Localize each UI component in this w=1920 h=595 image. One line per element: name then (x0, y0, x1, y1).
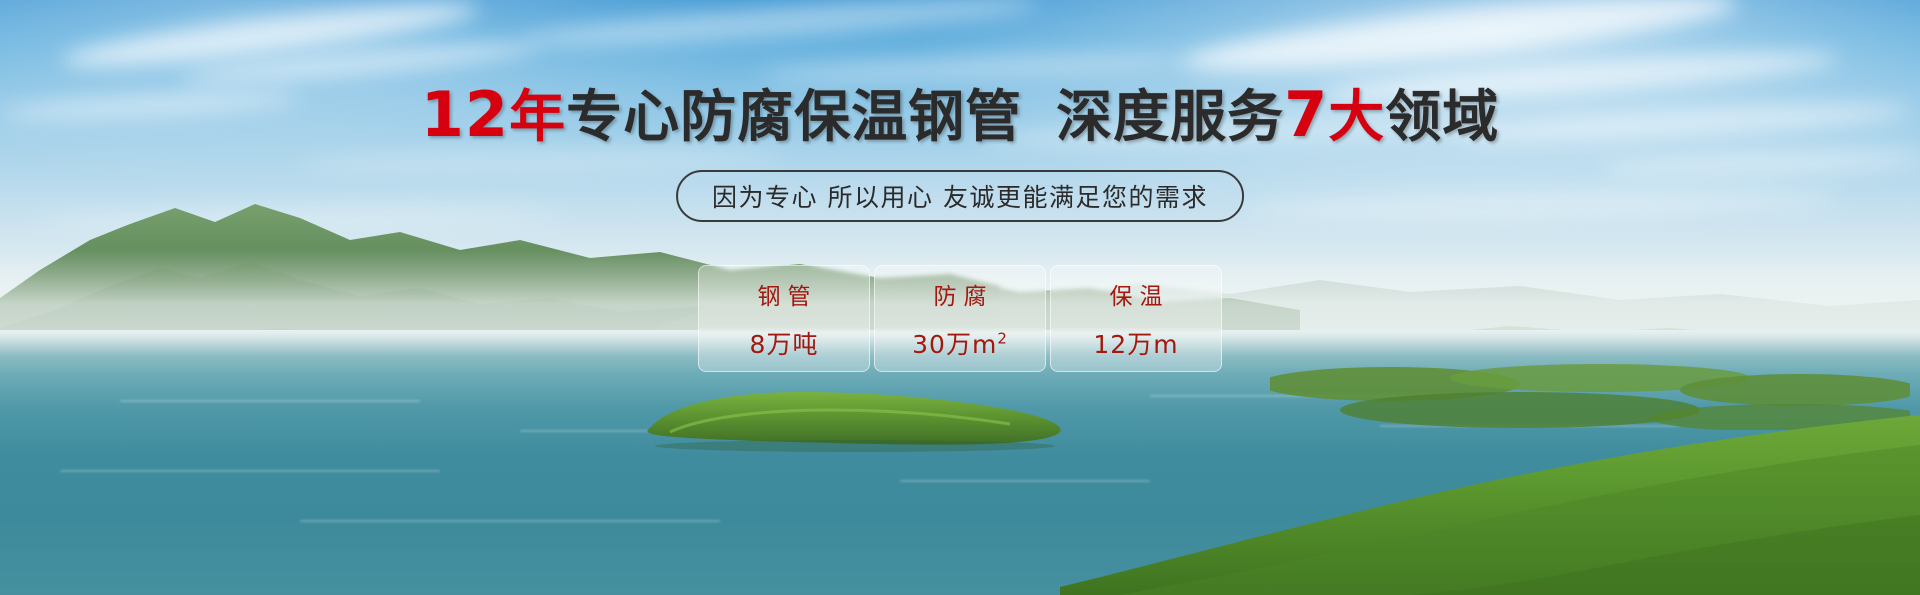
stat-card-anticorrosion[interactable]: 防腐 30万m2 (874, 265, 1046, 372)
stat-card-insulation[interactable]: 保温 12万m (1050, 265, 1222, 372)
stat-card-steel-pipe[interactable]: 钢管 8万吨 (698, 265, 870, 372)
headline: 12年专心防腐保温钢管深度服务7大领域 (0, 86, 1920, 147)
stat-card-value: 12万m (1093, 325, 1178, 361)
headline-seven-unit: 大 (1328, 85, 1385, 150)
hero-banner: 12年专心防腐保温钢管深度服务7大领域 因为专心 所以用心 友诚更能满足您的需求… (0, 0, 1920, 595)
stat-cards: 钢管 8万吨 防腐 30万m2 保温 12万m (698, 265, 1222, 372)
stat-card-label: 保温 (1103, 277, 1170, 311)
stat-card-label: 防腐 (927, 277, 994, 311)
subtitle-text: 因为专心 所以用心 友诚更能满足您的需求 (712, 178, 1208, 214)
stat-card-value-sup: 2 (997, 329, 1008, 347)
stat-card-value: 8万吨 (750, 325, 819, 361)
headline-main: 专心防腐保温钢管 (566, 85, 1022, 150)
stat-card-value-text: 12万m (1093, 330, 1178, 359)
headline-years-number: 12 (421, 78, 509, 151)
headline-service: 深度服务 (1056, 85, 1284, 150)
subtitle-pill: 因为专心 所以用心 友诚更能满足您的需求 (676, 170, 1244, 222)
stat-card-label: 钢管 (751, 277, 818, 311)
headline-fields: 领域 (1385, 85, 1499, 150)
stat-card-value-text: 30万m (912, 330, 997, 359)
banner-content: 12年专心防腐保温钢管深度服务7大领域 因为专心 所以用心 友诚更能满足您的需求… (0, 0, 1920, 595)
headline-years-unit: 年 (509, 85, 566, 150)
stat-card-value: 30万m2 (912, 325, 1008, 361)
stat-card-value-text: 8万吨 (750, 330, 819, 359)
headline-seven-number: 7 (1284, 78, 1328, 151)
